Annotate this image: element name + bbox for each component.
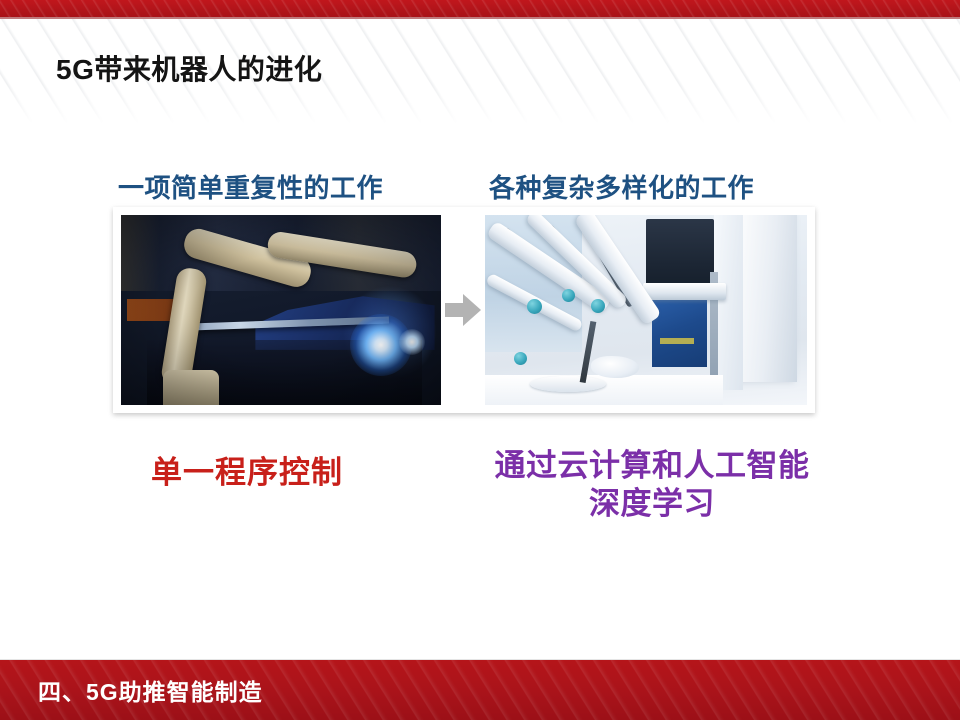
right-column-caption-line1: 通过云计算和人工智能: [462, 447, 842, 485]
assembly-table: [485, 375, 723, 405]
left-column-heading: 一项简单重复性的工作: [118, 168, 383, 205]
footer-section-label: 四、5G助推智能制造: [38, 673, 263, 707]
left-photo-welding-robot: [121, 215, 441, 405]
clean-robot-scene: [485, 215, 807, 405]
teal-joint-4: [514, 352, 527, 365]
welding-scene: [121, 215, 441, 405]
right-arrow-icon: [443, 290, 483, 330]
right-column-heading: 各种复杂多样化的工作: [489, 168, 754, 205]
photo-panel: [113, 207, 815, 413]
photo-gap: [441, 215, 485, 405]
footer-bar: 四、5G助推智能制造: [0, 660, 960, 720]
right-photo-smart-robot-cell: [485, 215, 807, 405]
photo-vignette: [121, 215, 441, 405]
machine-crossbar: [643, 283, 727, 300]
right-machine-column: [733, 215, 797, 382]
left-column-caption: 单一程序控制: [151, 447, 343, 492]
teal-joint-1: [527, 299, 542, 314]
right-column-caption-line2: 深度学习: [462, 485, 842, 523]
workpiece-disc: [530, 376, 606, 392]
blue-display-screen: [652, 299, 707, 367]
teal-joint-3: [591, 299, 605, 313]
top-accent-bar-stripes: [0, 0, 960, 17]
workpiece-product: [591, 356, 639, 378]
right-column-caption: 通过云计算和人工智能 深度学习: [462, 447, 842, 523]
top-accent-bar: [0, 0, 960, 17]
slide-canvas: 5G带来机器人的进化 一项简单重复性的工作 各种复杂多样化的工作: [0, 0, 960, 720]
page-title: 5G带来机器人的进化: [56, 48, 322, 88]
